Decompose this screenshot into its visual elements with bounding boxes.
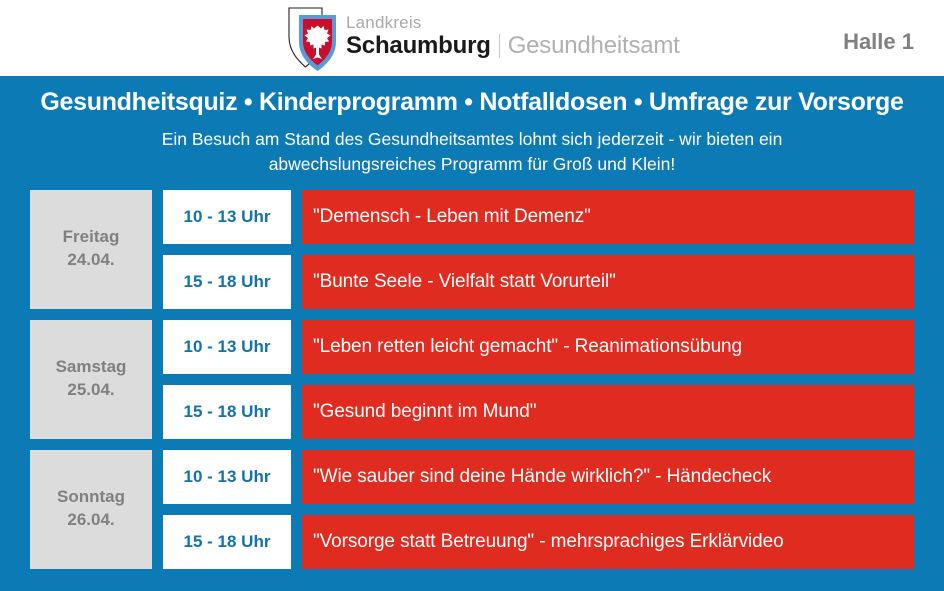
day-label-cell: Samstag25.04. bbox=[30, 320, 152, 439]
schedule-slot: 10 - 13 Uhr"Wie sauber sind deine Hände … bbox=[163, 450, 914, 504]
schaumburg-coat-of-arms-icon bbox=[288, 7, 338, 73]
slot-time: 10 - 13 Uhr bbox=[163, 320, 291, 374]
hall-label: Halle 1 bbox=[843, 29, 914, 55]
day-slot-group: 10 - 13 Uhr"Leben retten leicht gemacht"… bbox=[163, 320, 914, 439]
slot-time: 15 - 18 Uhr bbox=[163, 515, 291, 569]
slot-event-title: "Gesund beginnt im Mund" bbox=[302, 385, 914, 439]
content-area: Gesundheitsquiz • Kinderprogramm • Notfa… bbox=[0, 76, 944, 569]
slot-event-title: "Demensch - Leben mit Demenz" bbox=[302, 190, 914, 244]
schedule-day-row: Samstag25.04.10 - 13 Uhr"Leben retten le… bbox=[30, 320, 914, 439]
slot-time: 10 - 13 Uhr bbox=[163, 190, 291, 244]
slot-event-title: "Bunte Seele - Vielfalt statt Vorurteil" bbox=[302, 255, 914, 309]
slot-time: 15 - 18 Uhr bbox=[163, 385, 291, 439]
slot-event-title: "Leben retten leicht gemacht" - Reanimat… bbox=[302, 320, 914, 374]
slot-time: 10 - 13 Uhr bbox=[163, 450, 291, 504]
banner-headline: Gesundheitsquiz • Kinderprogramm • Notfa… bbox=[0, 76, 944, 117]
schedule-day-row: Sonntag26.04.10 - 13 Uhr"Wie sauber sind… bbox=[30, 450, 914, 569]
slot-event-title: "Vorsorge statt Betreuung" - mehrsprachi… bbox=[302, 515, 914, 569]
day-weekday: Samstag bbox=[56, 356, 127, 379]
day-date: 25.04. bbox=[67, 379, 114, 402]
day-weekday: Freitag bbox=[63, 226, 120, 249]
schedule-slot: 10 - 13 Uhr"Demensch - Leben mit Demenz" bbox=[163, 190, 914, 244]
day-label-cell: Freitag24.04. bbox=[30, 190, 152, 309]
schedule-table: Freitag24.04.10 - 13 Uhr"Demensch - Lebe… bbox=[0, 190, 944, 569]
logo-divider bbox=[499, 34, 500, 58]
banner-subheadline: Ein Besuch am Stand des Gesundheitsamtes… bbox=[0, 117, 944, 178]
page-header: Landkreis Schaumburg Gesundheitsamt Hall… bbox=[0, 0, 944, 76]
schedule-slot: 10 - 13 Uhr"Leben retten leicht gemacht"… bbox=[163, 320, 914, 374]
logo-line-landkreis: Landkreis bbox=[346, 14, 680, 31]
slot-event-title: "Wie sauber sind deine Hände wirklich?" … bbox=[302, 450, 914, 504]
day-slot-group: 10 - 13 Uhr"Demensch - Leben mit Demenz"… bbox=[163, 190, 914, 309]
day-slot-group: 10 - 13 Uhr"Wie sauber sind deine Hände … bbox=[163, 450, 914, 569]
day-date: 26.04. bbox=[67, 509, 114, 532]
organization-logo: Landkreis Schaumburg Gesundheitsamt bbox=[288, 7, 680, 73]
logo-department: Gesundheitsamt bbox=[508, 34, 680, 58]
schedule-day-row: Freitag24.04.10 - 13 Uhr"Demensch - Lebe… bbox=[30, 190, 914, 309]
logo-line-schaumburg: Schaumburg bbox=[346, 34, 491, 58]
logo-wordmark: Landkreis Schaumburg Gesundheitsamt bbox=[346, 7, 680, 58]
schedule-slot: 15 - 18 Uhr"Gesund beginnt im Mund" bbox=[163, 385, 914, 439]
day-label-cell: Sonntag26.04. bbox=[30, 450, 152, 569]
schedule-slot: 15 - 18 Uhr"Bunte Seele - Vielfalt statt… bbox=[163, 255, 914, 309]
day-date: 24.04. bbox=[67, 249, 114, 272]
day-weekday: Sonntag bbox=[57, 486, 125, 509]
schedule-slot: 15 - 18 Uhr"Vorsorge statt Betreuung" - … bbox=[163, 515, 914, 569]
slot-time: 15 - 18 Uhr bbox=[163, 255, 291, 309]
